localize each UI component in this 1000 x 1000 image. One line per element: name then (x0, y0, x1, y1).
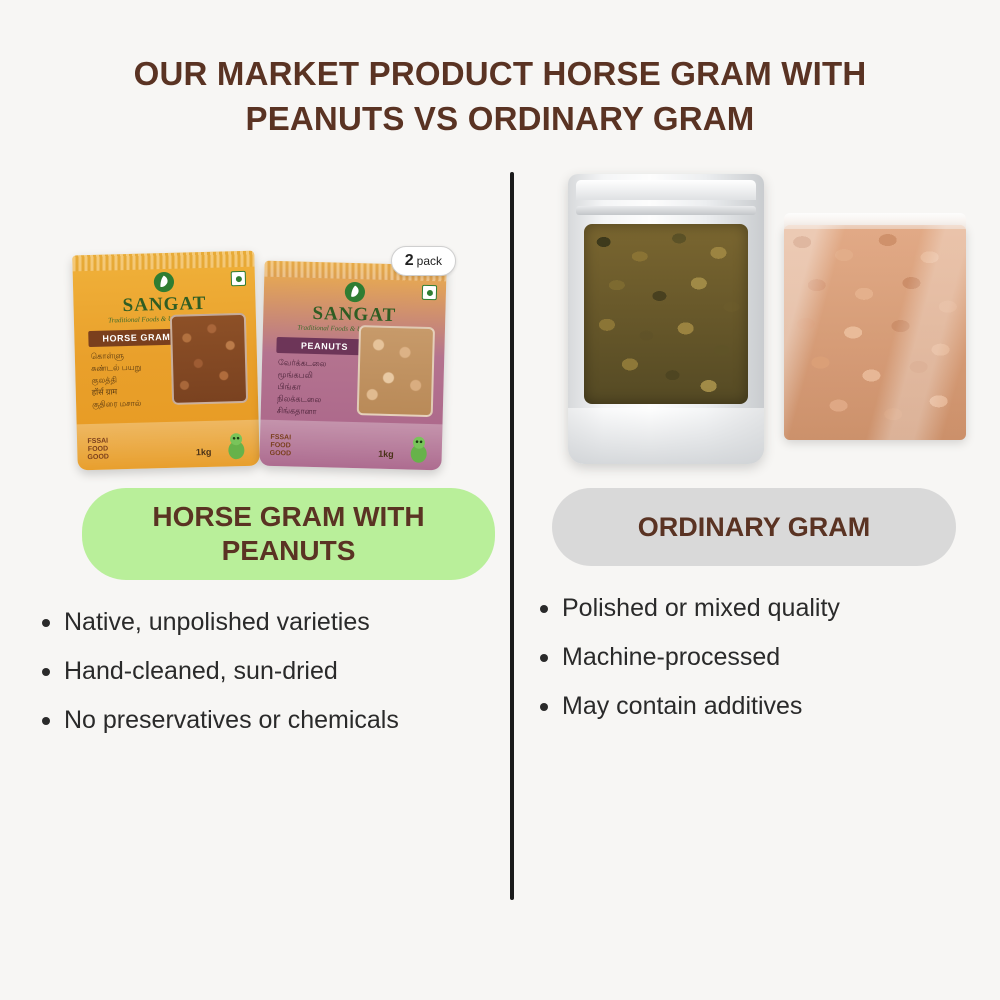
leaf-logo-icon (153, 271, 176, 294)
column-divider (510, 172, 514, 900)
standup-pouch-horse-gram[interactable] (568, 174, 764, 464)
pouch-top-header (576, 180, 756, 200)
list-item: Polished or mixed quality (528, 592, 958, 626)
list-item: May contain additives (528, 690, 958, 724)
right-category-label: ORDINARY GRAM (552, 488, 956, 566)
pouch-bottom-gusset (568, 408, 764, 464)
pack-count-badge: 2pack (391, 246, 456, 276)
right-points-list: Polished or mixed quality Machine-proces… (528, 592, 958, 723)
left-product-images: SANGAT Traditional Foods & Utensils for … (30, 172, 500, 482)
mascot-icon (405, 433, 432, 464)
product-pouch-peanuts[interactable]: SANGAT Traditional Foods & Utensils for … (259, 261, 446, 471)
product-pouch-horse-gram[interactable]: SANGAT Traditional Foods & Utensils for … (72, 251, 260, 471)
list-item: Machine-processed (528, 641, 958, 675)
page-title: OUR MARKET PRODUCT HORSE GRAM WITH PEANU… (50, 52, 950, 141)
mascot-icon (223, 430, 250, 461)
left-column: SANGAT Traditional Foods & Utensils for … (30, 172, 500, 752)
pouch-top-seal (72, 251, 254, 272)
fssai-mark-icon: FSSAI FOOD GOOD (87, 437, 109, 462)
pack-count-unit: pack (417, 254, 442, 268)
left-category-label: HORSE GRAM WITH PEANUTS (82, 488, 495, 580)
title-line-2: PEANUTS VS ORDINARY GRAM (50, 97, 950, 142)
fssai-mark-icon: FSSAI FOOD GOOD (270, 434, 292, 459)
list-item: No preservatives or chemicals (30, 704, 500, 738)
title-line-1: OUR MARKET PRODUCT HORSE GRAM WITH (134, 55, 867, 92)
list-item: Hand-cleaned, sun-dried (30, 655, 500, 689)
pouch-zip-lock (576, 206, 756, 215)
leaf-logo-icon (344, 281, 367, 304)
right-product-images (528, 172, 980, 482)
bag-plastic-sheen (784, 225, 966, 440)
pouch-transparent-window (357, 325, 435, 417)
pouch-net-weight: 1kg (378, 449, 394, 459)
list-item: Native, unpolished varieties (30, 606, 500, 640)
right-column: ORDINARY GRAM Polished or mixed quality … (528, 172, 980, 738)
pouch-transparent-window (170, 313, 248, 405)
left-points-list: Native, unpolished varieties Hand-cleane… (30, 606, 500, 737)
pouch-net-weight: 1kg (196, 447, 212, 457)
plastic-bag-peanuts[interactable] (784, 225, 966, 440)
pack-count-value: 2 (405, 252, 414, 269)
pouch-transparent-window (584, 224, 748, 404)
